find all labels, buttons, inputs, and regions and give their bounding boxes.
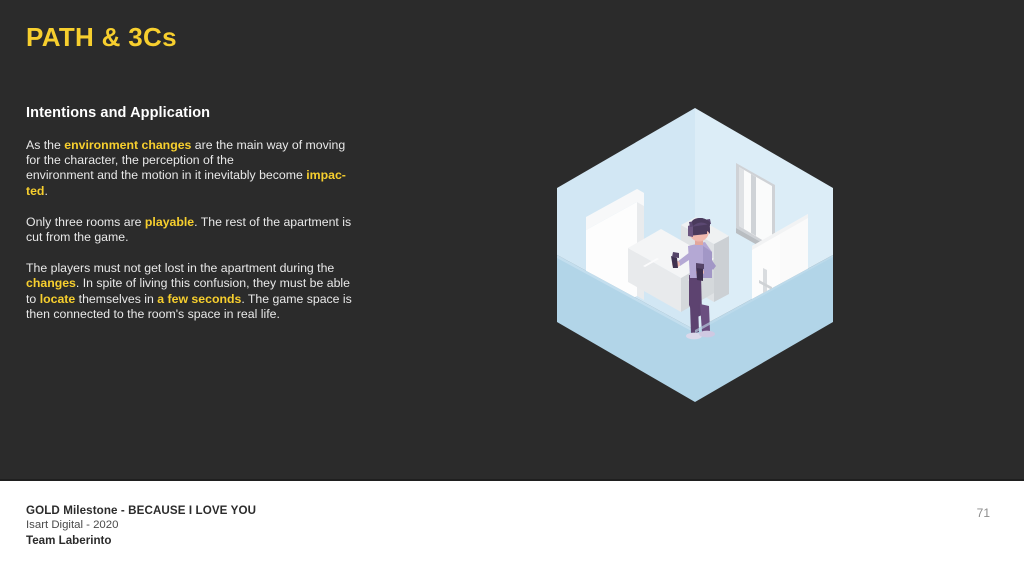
paragraph-environment-changes: As the environment changes are the main … — [26, 138, 398, 199]
body-text: The players must not get lost in the apa… — [26, 261, 334, 275]
footer-line-milestone: GOLD Milestone - BECAUSE I LOVE YOU — [26, 503, 256, 518]
body-text: . — [44, 184, 47, 198]
body-text: themselves in — [75, 292, 157, 306]
text-column: Intentions and Application As the enviro… — [26, 105, 398, 322]
slide-body: PATH & 3Cs Intentions and Application As… — [0, 0, 1024, 481]
page-number: 71 — [977, 506, 990, 520]
highlighted-text: changes — [26, 276, 76, 290]
section-heading: Intentions and Application — [26, 105, 398, 121]
highlighted-text: playable — [145, 215, 194, 229]
highlighted-text: environment changes — [64, 138, 191, 152]
highlighted-text: locate — [40, 292, 76, 306]
footer-text: GOLD Milestone - BECAUSE I LOVE YOU Isar… — [26, 503, 256, 548]
iso-stage — [540, 100, 850, 410]
footer-line-team: Team Laberinto — [26, 533, 256, 548]
footer-line-school: Isart Digital - 2020 — [26, 518, 256, 533]
body-text: Only three rooms are — [26, 215, 145, 229]
highlighted-text: a few seconds — [157, 292, 241, 306]
paragraph-playable-rooms: Only three rooms are playable. The rest … — [26, 215, 398, 245]
page-title: PATH & 3Cs — [26, 22, 177, 53]
footer: GOLD Milestone - BECAUSE I LOVE YOU Isar… — [0, 481, 1024, 575]
isometric-vr-room-illustration — [540, 100, 850, 410]
body-text: As the — [26, 138, 64, 152]
isometric-room-svg — [540, 100, 850, 410]
paragraph-player-orientation: The players must not get lost in the apa… — [26, 261, 398, 322]
